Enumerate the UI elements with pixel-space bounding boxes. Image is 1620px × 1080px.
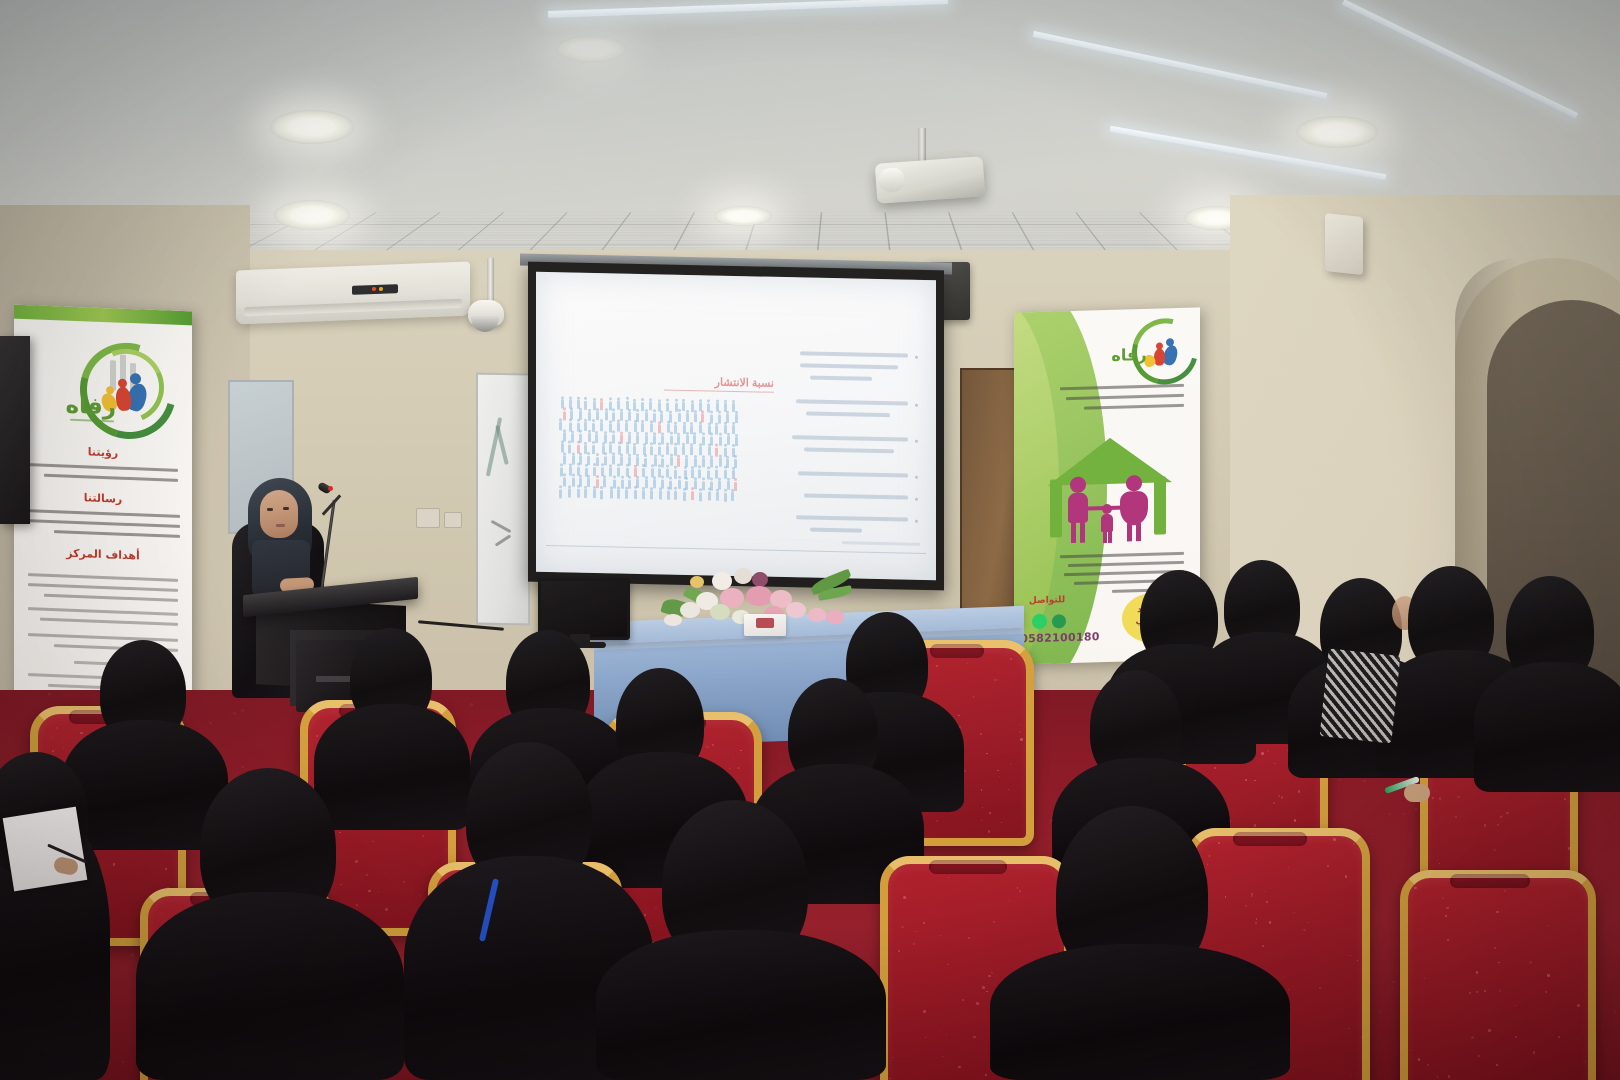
pictogram-person-icon: [734, 455, 737, 458]
pictogram-person-icon: [708, 488, 711, 491]
camera-mount-pole: [487, 258, 494, 306]
chair-fabric-speck: [1303, 929, 1305, 931]
pictogram-person-icon: [699, 488, 702, 491]
pictogram-person-icon: [677, 458, 680, 467]
pictogram-person-icon: [577, 419, 580, 422]
chair-fabric-speck: [948, 877, 949, 878]
pictogram-person-icon: [715, 426, 718, 435]
carpet-speck: [131, 953, 134, 956]
chair-fabric-speck: [947, 964, 948, 965]
banquet-chair[interactable]: [1400, 870, 1580, 1080]
chair-fabric-speck: [1515, 1036, 1517, 1038]
chair-fabric-speck: [1350, 1075, 1352, 1077]
chair-fabric-speck: [1348, 1028, 1350, 1030]
chair-fabric-speck: [1056, 929, 1058, 931]
flower: [680, 602, 700, 618]
chair-fabric-speck: [1019, 731, 1021, 733]
pictogram-person-icon: [674, 443, 677, 446]
chair-fabric-speck: [901, 926, 903, 928]
chair-fabric-speck: [160, 912, 161, 913]
chair-fabric-speck: [1019, 724, 1020, 725]
chair-fabric-speck: [1333, 838, 1336, 841]
pictogram-person-icon: [621, 476, 624, 479]
pictogram-person-icon: [732, 444, 735, 447]
chair-fabric-speck: [1245, 779, 1247, 781]
pictogram-person-icon: [698, 469, 701, 478]
chair-fabric-speck: [366, 874, 368, 876]
pictogram-person-icon: [577, 463, 580, 466]
flower: [746, 586, 772, 606]
chair-fabric-speck: [981, 820, 983, 822]
chair-fabric-speck: [923, 922, 925, 924]
slide-footer-rule: [546, 545, 926, 554]
chair-fabric-speck: [80, 732, 82, 734]
pictogram-person-icon: [699, 446, 702, 455]
chair-fabric-speck: [993, 921, 995, 923]
attendee-shoulders: [596, 930, 886, 1080]
logo-wordmark: رفاه: [66, 393, 116, 421]
chair-fabric-speck: [1209, 855, 1210, 856]
slide-heading: نسبة الانتشار: [664, 374, 774, 392]
pictogram-person-icon: [641, 423, 644, 432]
pictogram-person-icon: [710, 478, 713, 481]
pictogram-person-icon: [600, 401, 603, 410]
chair-fabric-speck: [1319, 987, 1321, 989]
chair-fabric-speck: [1506, 812, 1509, 815]
chair-fabric-speck: [1019, 890, 1021, 892]
chair-fabric-speck: [1439, 863, 1440, 864]
presenter-face: [260, 490, 298, 538]
pictogram-person-icon: [592, 441, 595, 444]
banner-heading-vision: رؤيتنا: [14, 443, 192, 463]
chair-fabric-speck: [1469, 992, 1471, 994]
attendee-shoulders: [1474, 662, 1620, 792]
pictogram-person-icon: [620, 412, 623, 421]
pictogram-person-icon: [604, 456, 607, 465]
chair-fabric-speck: [1499, 990, 1501, 992]
chair-fabric-speck: [1251, 896, 1252, 897]
chair-fabric-speck: [1225, 896, 1227, 898]
chair-fabric-speck: [1254, 780, 1256, 782]
chair-fabric-speck: [898, 950, 900, 952]
carpet-speck: [48, 693, 51, 696]
chair-fabric-speck: [964, 770, 966, 772]
pictogram-person-icon: [603, 478, 606, 487]
pictogram-person-icon: [563, 456, 566, 465]
chair-fabric-speck: [339, 832, 341, 834]
pictogram-person-icon: [724, 466, 727, 469]
chair-fabric-speck: [1427, 1064, 1429, 1066]
chair-fabric-speck: [1214, 767, 1216, 769]
chair-fabric-speck: [967, 663, 968, 664]
chair-fabric-speck: [985, 1074, 987, 1076]
pictogram-person-icon: [683, 492, 686, 501]
chair-fabric-speck: [1448, 1075, 1451, 1078]
chair-fabric-speck: [986, 991, 988, 993]
carpet-speck: [1363, 780, 1366, 783]
pictogram-person-icon: [620, 457, 623, 466]
pictogram-person-icon: [715, 444, 718, 447]
pictogram-person-icon: [682, 402, 685, 411]
pictogram-person-icon: [653, 410, 656, 413]
chair-fabric-speck: [51, 737, 53, 739]
carpet-speck: [1339, 779, 1340, 780]
chair-fabric-speck: [1251, 893, 1253, 895]
chair-fabric-speck: [1350, 955, 1351, 956]
contact-label: للتواصل: [1018, 595, 1076, 607]
chair-fabric-speck: [385, 908, 387, 910]
pictogram-person-icon: [670, 432, 673, 435]
carpet-speck: [1390, 987, 1393, 990]
pictogram-person-icon: [694, 480, 697, 489]
pictogram-person-icon: [653, 435, 656, 444]
chair-fabric-speck: [355, 860, 357, 862]
pictogram-person-icon: [731, 492, 734, 501]
chair-fabric-speck: [1256, 918, 1257, 919]
carpet-speck: [1403, 813, 1405, 815]
chair-fabric-speck: [1500, 816, 1502, 818]
pictogram-person-icon: [718, 411, 721, 414]
chair-fabric-speck: [976, 1002, 979, 1005]
family-figure-parent: [1126, 475, 1142, 491]
chair-fabric-speck: [113, 863, 115, 865]
carpet-speck: [1396, 1071, 1398, 1073]
pictogram-person-icon: [727, 481, 730, 490]
wall-socket[interactable]: [416, 508, 440, 528]
pictogram-person-icon: [584, 422, 587, 431]
carpet-speck: [229, 709, 231, 711]
rafah-logo: رفاه: [1110, 316, 1194, 382]
pictogram-person-icon: [584, 401, 587, 410]
pictogram-person-icon: [649, 401, 652, 410]
pictogram-person-icon: [708, 447, 711, 456]
chair-fabric-speck: [1357, 960, 1358, 961]
chair-fabric-speck: [1538, 894, 1539, 895]
chair-fabric-speck: [994, 679, 996, 681]
flower: [752, 572, 768, 587]
pictogram-person-icon: [600, 490, 603, 499]
pictogram-person-icon: [719, 436, 722, 445]
pictogram-person-icon: [610, 490, 613, 499]
pictogram-person-icon: [724, 489, 727, 492]
pictogram-person-icon: [587, 478, 590, 487]
pictogram-person-icon: [710, 411, 713, 414]
pictogram-person-icon: [715, 447, 718, 456]
carpet-speck: [1049, 823, 1050, 824]
pictogram-person-icon: [563, 474, 566, 477]
chair-fabric-speck: [52, 750, 54, 752]
pictogram-person-icon: [650, 491, 653, 500]
chair-fabric-speck: [1267, 750, 1269, 752]
pictogram-person-icon: [609, 467, 612, 476]
pictogram-person-icon: [593, 463, 596, 466]
projector-lens-icon: [877, 167, 905, 193]
chair-fabric-speck: [989, 812, 991, 814]
logo-wordmark: رفاه: [1110, 345, 1148, 365]
chair-fabric-speck: [986, 753, 988, 755]
pictogram-person-icon: [702, 433, 705, 436]
chair-fabric-speck: [1293, 912, 1295, 914]
chair-fabric-speck: [1410, 1050, 1411, 1051]
chair-fabric-speck: [1265, 891, 1266, 892]
pictogram-person-icon: [642, 490, 645, 499]
chair-fabric-speck: [1496, 1064, 1498, 1066]
pictogram-person-icon: [675, 399, 678, 402]
gift-ribbon: [756, 618, 774, 628]
chair-fabric-speck: [340, 884, 342, 886]
chair-fabric-speck: [1245, 905, 1247, 907]
attendee-shoulders: [136, 892, 404, 1080]
pictogram-person-icon: [674, 490, 677, 499]
pictogram-person-icon: [645, 412, 648, 421]
pictogram-person-icon: [617, 467, 620, 476]
strip-light-icon: [1033, 31, 1328, 99]
pictogram-person-icon: [677, 436, 680, 445]
pictogram-person-icon: [628, 476, 631, 479]
chair-fabric-speck: [1261, 752, 1264, 755]
chair-fabric-speck: [1484, 824, 1486, 826]
pictogram-person-icon: [684, 466, 687, 469]
chair-fabric-speck: [936, 665, 938, 667]
pictogram-person-icon: [650, 446, 653, 455]
chair-fabric-speck: [936, 820, 939, 823]
pictogram-person-icon: [634, 486, 637, 489]
flower: [734, 568, 752, 584]
chair-fabric-speck: [1504, 890, 1506, 892]
carpet-speck: [209, 722, 212, 725]
pictogram-person-icon: [593, 467, 596, 476]
chair-fabric-speck: [980, 733, 983, 736]
pa-speaker: [0, 336, 30, 524]
chair-fabric-speck: [1009, 900, 1010, 901]
pictogram-person-icon: [674, 466, 677, 469]
chair-fabric-speck: [958, 1066, 961, 1069]
attendee-shoulders: [314, 704, 470, 830]
pictogram-person-icon: [605, 411, 608, 420]
pictogram-person-icon: [724, 492, 727, 501]
pictogram-person-icon: [600, 422, 603, 431]
banner-heading-mission: رسالتنا: [14, 489, 192, 509]
chair-fabric-speck: [892, 1057, 894, 1059]
carpet-speck: [1608, 815, 1610, 817]
chair-fabric-speck: [1298, 790, 1301, 793]
chair-fabric-speck: [1424, 978, 1425, 979]
chair-fabric-speck: [1254, 824, 1256, 826]
attendee-patterned-veil: [1320, 648, 1401, 743]
chair-fabric-speck: [56, 727, 57, 728]
pictogram-person-icon: [584, 489, 587, 498]
pictogram-person-icon: [686, 413, 689, 422]
pictogram-person-icon: [661, 458, 664, 467]
pictogram-person-icon: [572, 474, 575, 477]
pictogram-person-icon: [735, 437, 738, 446]
chair-fabric-speck: [1001, 822, 1002, 823]
pictogram-person-icon: [568, 488, 571, 497]
pictogram-person-icon: [661, 479, 664, 488]
pictogram-person-icon: [644, 454, 647, 457]
pictogram-person-icon: [685, 477, 688, 480]
pictogram-person-icon: [724, 444, 727, 447]
chair-fabric-speck: [1024, 659, 1025, 660]
chair-fabric-speck: [737, 767, 739, 769]
pictogram-person-icon: [626, 445, 629, 454]
pictogram-person-icon: [613, 479, 616, 488]
chair-fabric-speck: [740, 750, 741, 751]
pictogram-person-icon: [596, 411, 599, 420]
chair-fabric-speck: [1294, 819, 1296, 821]
pictogram-person-icon: [666, 402, 669, 411]
pictogram-person-icon: [719, 433, 722, 436]
carpet-speck: [1388, 813, 1391, 816]
carpet-speck: [1379, 1010, 1382, 1013]
chair-fabric-speck: [939, 1031, 940, 1032]
pictogram-person-icon: [666, 446, 669, 455]
chair-fabric-speck: [1414, 887, 1417, 890]
flower: [710, 604, 730, 620]
pictogram-person-icon: [604, 452, 607, 455]
chair-fabric-speck: [420, 894, 421, 895]
chair-fabric-speck: [309, 711, 311, 713]
pictogram-person-icon: [693, 435, 696, 444]
pictogram-person-icon: [727, 436, 730, 445]
pictogram-person-icon: [682, 446, 685, 455]
pictogram-person-icon: [735, 414, 738, 423]
chair-fabric-speck: [1262, 945, 1264, 947]
pictogram-person-icon: [653, 480, 656, 489]
carpet-speck: [122, 1061, 124, 1063]
chair-fabric-speck: [982, 807, 983, 808]
chair-fabric-speck: [889, 1078, 891, 1080]
pictogram-person-icon: [732, 425, 735, 434]
chair-fabric-speck: [923, 1010, 926, 1013]
chair-fabric-speck: [973, 696, 975, 698]
chair-fabric-speck: [378, 891, 379, 892]
pictogram-person-icon: [694, 459, 697, 468]
chair-fabric-speck: [958, 715, 959, 716]
chair-fabric-speck: [1476, 991, 1478, 993]
chair-fabric-speck: [1484, 990, 1486, 992]
chair-fabric-speck: [1455, 816, 1457, 818]
chair-fabric-speck: [372, 841, 373, 842]
chair-fabric-speck: [712, 744, 715, 747]
pictogram-person-icon: [707, 467, 710, 470]
pictogram-person-icon: [667, 490, 670, 499]
pictogram-person-icon: [568, 444, 571, 453]
pictogram-person-icon: [636, 409, 639, 412]
chair-fabric-speck: [1273, 802, 1275, 804]
carpet-speck: [1388, 991, 1389, 992]
pictogram-person-icon: [707, 470, 710, 479]
rafah-logo: رفاه: [66, 335, 178, 435]
chair-fabric-speck: [1476, 971, 1479, 974]
pictogram-person-icon: [587, 452, 590, 455]
pictogram-person-icon: [577, 485, 580, 488]
wall-socket[interactable]: [444, 512, 462, 528]
carpet-speck: [1602, 1026, 1604, 1028]
chair-fabric-speck: [1281, 958, 1282, 959]
downlight-icon: [556, 36, 626, 62]
chair-fabric-speck: [1327, 865, 1329, 867]
notepad[interactable]: [3, 807, 88, 892]
chair-fabric-speck: [733, 758, 734, 759]
pictogram-person-icon: [661, 436, 664, 445]
pictogram-person-icon: [702, 481, 705, 490]
pictogram-person-icon: [625, 490, 628, 499]
pictogram-person-icon: [690, 446, 693, 455]
pictogram-person-icon: [674, 469, 677, 478]
chair-fabric-speck: [1010, 764, 1011, 765]
chair-fabric-speck: [940, 935, 941, 936]
pictogram-person-icon: [678, 476, 681, 479]
pictogram-person-icon: [579, 430, 582, 433]
pictogram-person-icon: [577, 441, 580, 444]
downlight-icon: [714, 206, 772, 226]
chair-fabric-speck: [1266, 901, 1267, 902]
carpet-speck: [470, 703, 473, 706]
pictogram-person-icon: [596, 453, 599, 456]
chair-fabric-speck: [644, 914, 646, 916]
chair-fabric-speck: [988, 830, 991, 833]
strip-light-icon: [1342, 0, 1578, 119]
pictogram-person-icon: [572, 477, 575, 486]
chair-fabric-speck: [356, 904, 358, 906]
pictogram-person-icon: [702, 478, 705, 481]
wall-speaker-icon: [1325, 213, 1363, 275]
slide-pictogram-chart: [560, 396, 740, 500]
pictogram-person-icon: [612, 412, 615, 421]
carpet-speck: [1393, 793, 1394, 794]
chair-fabric-speck: [981, 789, 983, 791]
chair-fabric-speck: [1361, 1036, 1363, 1038]
pictogram-person-icon: [563, 477, 566, 486]
chair-fabric-speck: [903, 896, 906, 899]
chair-fabric-speck: [942, 1056, 943, 1057]
chair-fabric-speck: [1558, 1036, 1559, 1037]
pictogram-person-icon: [683, 488, 686, 491]
chair-fabric-speck: [962, 999, 964, 1001]
pictogram-person-icon: [593, 489, 596, 498]
chair-fabric-speck: [1432, 797, 1434, 799]
projection-screen: نسبة الانتشار: [536, 272, 936, 580]
chair-fabric-speck: [997, 770, 998, 771]
chair-fabric-speck: [422, 835, 424, 837]
pictogram-person-icon: [715, 466, 718, 469]
pictogram-person-icon: [716, 492, 719, 501]
strip-light-icon: [548, 0, 948, 18]
pictogram-person-icon: [642, 464, 645, 467]
chair-fabric-speck: [973, 1036, 975, 1038]
pictogram-person-icon: [592, 419, 595, 422]
flower: [690, 576, 704, 588]
pictogram-person-icon: [592, 445, 595, 454]
pictogram-person-icon: [636, 435, 639, 444]
pictogram-person-icon: [659, 490, 662, 499]
pictogram-person-icon: [658, 446, 661, 455]
chair-fabric-speck: [1447, 939, 1449, 941]
pictogram-person-icon: [651, 465, 654, 468]
pictogram-person-icon: [577, 488, 580, 497]
chair-fabric-speck: [403, 881, 405, 883]
pictogram-person-icon: [669, 414, 672, 423]
pictogram-person-icon: [702, 458, 705, 467]
chair-fabric-speck: [1010, 658, 1011, 659]
pictogram-person-icon: [645, 479, 648, 488]
chair-fabric-speck: [1585, 1061, 1586, 1062]
pictogram-person-icon: [653, 413, 656, 422]
pictogram-person-icon: [678, 413, 681, 422]
conference-hall-photo: نسبة الانتشار: [0, 0, 1620, 1080]
pictogram-person-icon: [670, 435, 673, 444]
